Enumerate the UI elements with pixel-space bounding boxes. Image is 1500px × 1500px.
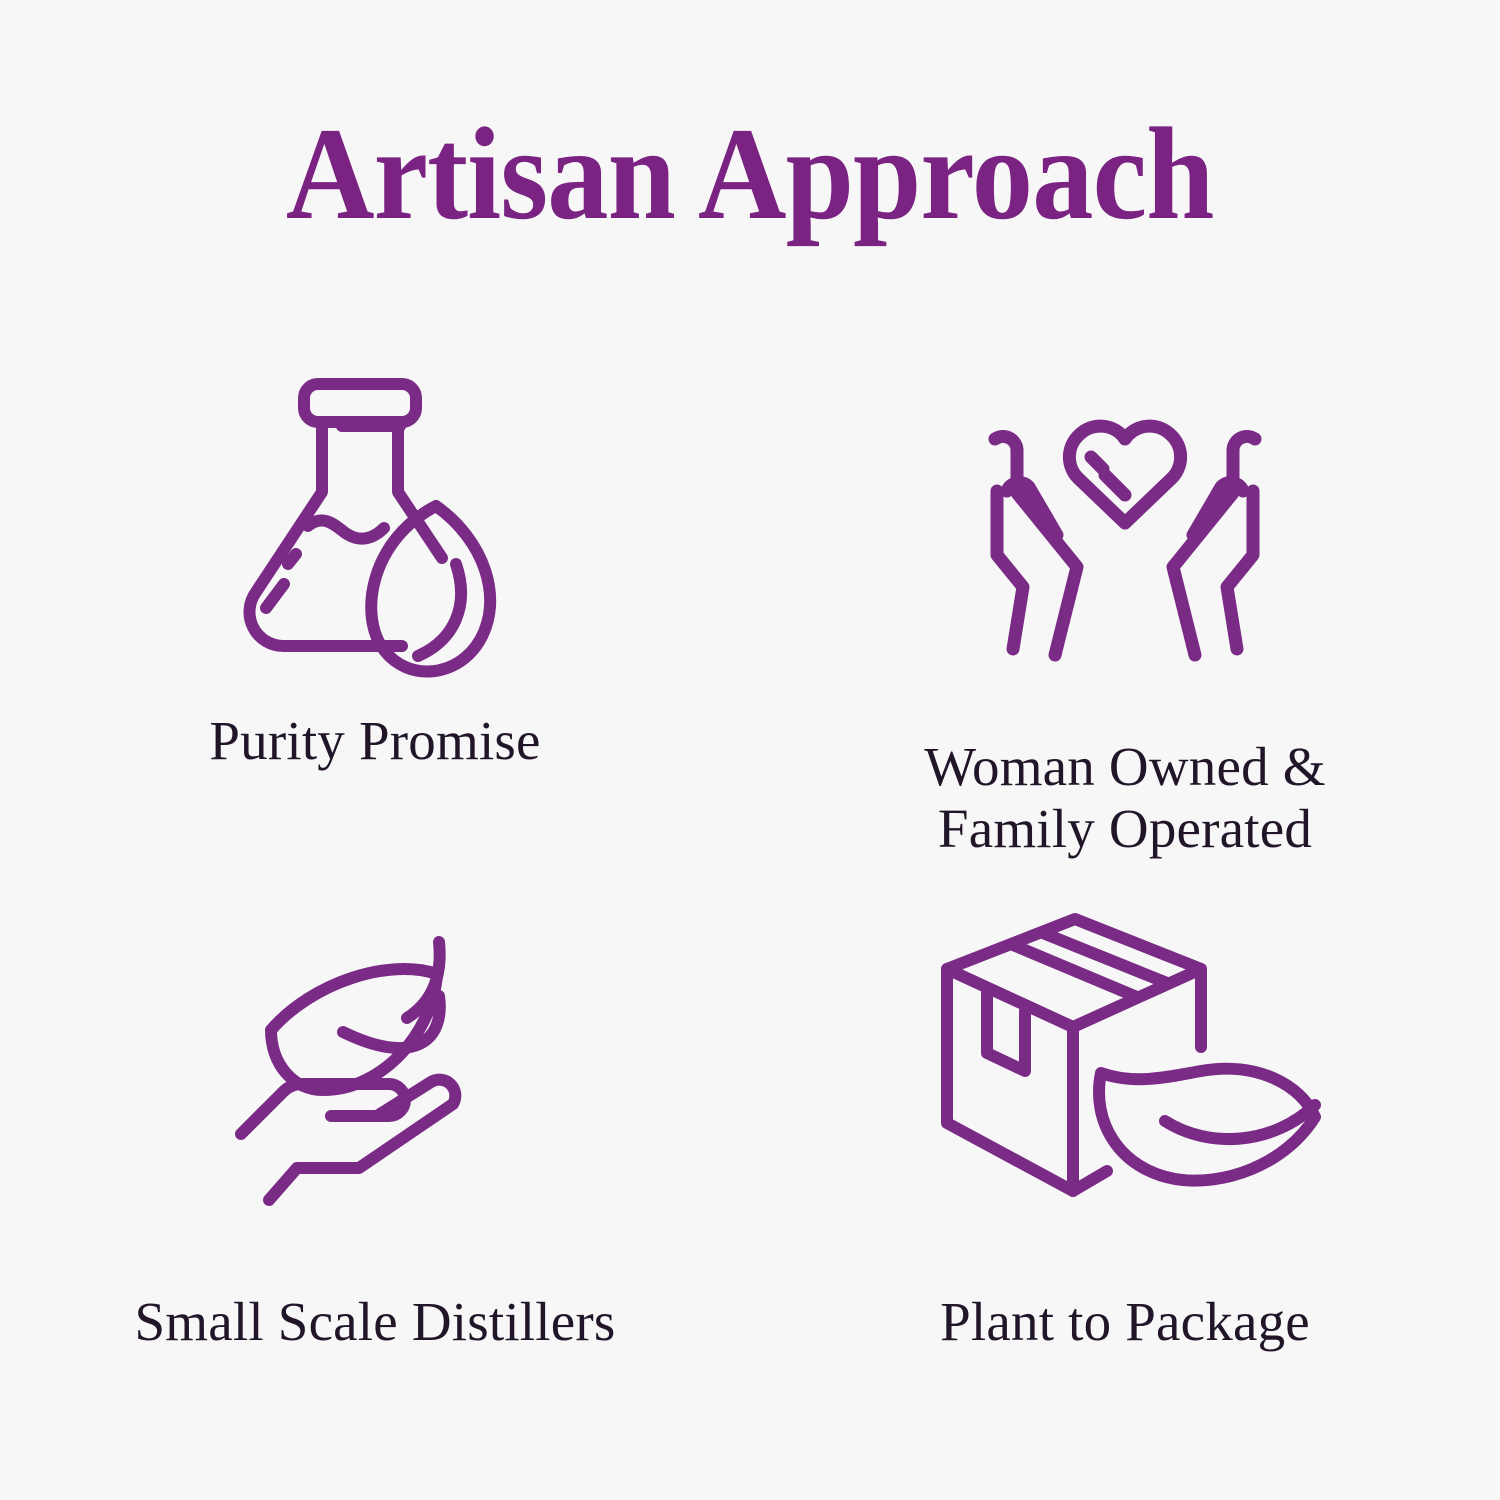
feature-item-plant-to-package: Plant to Package bbox=[750, 895, 1500, 1430]
box-leaf-icon bbox=[925, 905, 1325, 1205]
feature-item-small-scale-distillers: Small Scale Distillers bbox=[0, 895, 750, 1430]
feature-label: Plant to Package bbox=[940, 1291, 1310, 1353]
feature-item-purity-promise: Purity Promise bbox=[0, 350, 750, 895]
hands-holding-heart-icon bbox=[965, 380, 1285, 680]
flask-leaf-icon bbox=[230, 368, 520, 668]
feature-grid: Purity Promise bbox=[0, 350, 1500, 1430]
feature-item-woman-owned: Woman Owned & Family Operated bbox=[750, 350, 1500, 895]
page-title-container: Artisan Approach bbox=[0, 108, 1500, 240]
feature-label: Woman Owned & Family Operated bbox=[924, 736, 1325, 859]
page-title: Artisan Approach bbox=[286, 108, 1214, 240]
feature-label: Purity Promise bbox=[209, 710, 540, 772]
feature-label: Small Scale Distillers bbox=[134, 1291, 615, 1353]
hand-holding-leaf-icon bbox=[235, 917, 515, 1217]
artisan-approach-panel: Artisan Approach bbox=[0, 0, 1500, 1500]
